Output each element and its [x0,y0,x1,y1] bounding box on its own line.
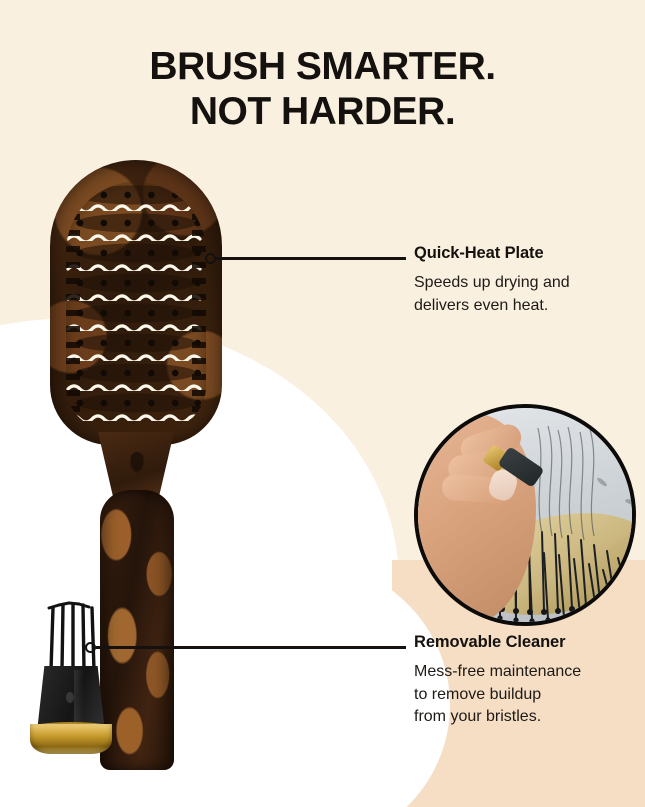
inset-loose-hair-icon [528,424,636,574]
wave-line-icon [66,352,206,361]
callout-title: Quick-Heat Plate [414,244,645,263]
removable-cleaner-accessory [28,596,114,758]
inset-photo-cleaner-in-use [414,404,636,626]
wave-line-icon [66,412,206,421]
brand-emblem-icon [129,452,145,474]
wave-line-icon [66,382,206,391]
headline-line-2: NOT HARDER. [0,90,645,135]
wave-line-icon [66,292,206,301]
brush-head [50,160,222,445]
wave-line-icon [66,232,206,241]
infographic-canvas: BRUSH SMARTER. NOT HARDER. [0,0,645,807]
callout-removable-cleaner: Removable Cleaner Mess-free maintenance … [414,633,645,729]
callout-title: Removable Cleaner [414,633,645,652]
callout-body: Mess-free maintenance to remove buildup … [414,661,645,729]
wave-line-icon [66,202,206,211]
quick-heat-plate-surface [66,182,206,430]
bristle-column-left [66,182,80,430]
wave-line-icon [66,262,206,271]
callout-body: Speeds up drying and delivers even heat. [414,272,645,317]
callout-leader-line [216,257,406,260]
callout-quick-heat-plate: Quick-Heat Plate Speeds up drying and de… [414,244,645,317]
page-title: BRUSH SMARTER. NOT HARDER. [0,45,645,135]
cleaner-gold-base [30,724,112,754]
bristle-column-right [192,182,206,430]
headline-line-1: BRUSH SMARTER. [149,45,495,88]
callout-anchor-dot [205,253,216,264]
callout-leader-line [96,646,406,649]
callout-anchor-dot [85,642,96,653]
wave-line-icon [66,322,206,331]
cleaner-emblem-icon [66,692,74,703]
cleaner-tines-icon [44,596,100,674]
cleaner-body-highlight [74,670,84,728]
